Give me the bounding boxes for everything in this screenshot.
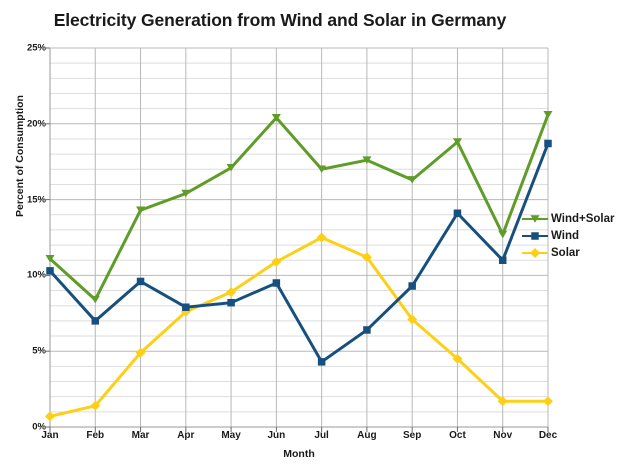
data-point-marker [363,326,371,334]
legend-item-label: Solar [548,247,580,259]
data-point-marker [92,317,100,325]
legend-swatch-icon [522,245,548,261]
legend-marker-icon [529,231,541,241]
data-point-marker [408,282,416,290]
legend-item-label: Wind+Solar [548,213,614,225]
data-point-marker [182,303,190,311]
legend-item-wind-plus-solar[interactable]: Wind+Solar [522,211,622,227]
legend-swatch-icon [522,211,548,227]
legend-marker-icon [529,248,541,258]
chart-container: Electricity Generation from Wind and Sol… [0,0,623,467]
legend-swatch-icon [522,228,548,244]
data-point-marker [531,232,539,240]
data-point-marker [227,299,235,307]
data-point-marker [544,140,552,148]
data-point-marker [530,248,540,258]
data-point-marker [531,215,540,223]
data-point-marker [454,209,462,217]
data-point-marker [46,267,54,275]
legend-marker-icon [529,214,541,224]
legend-item-wind[interactable]: Wind [522,228,622,244]
chart-legend: Wind+SolarWindSolar [522,211,622,262]
data-point-marker [273,279,281,287]
data-point-marker [499,256,507,264]
legend-item-solar[interactable]: Solar [522,245,622,261]
legend-item-label: Wind [548,230,579,242]
data-point-marker [318,358,326,366]
data-point-marker [137,278,145,286]
